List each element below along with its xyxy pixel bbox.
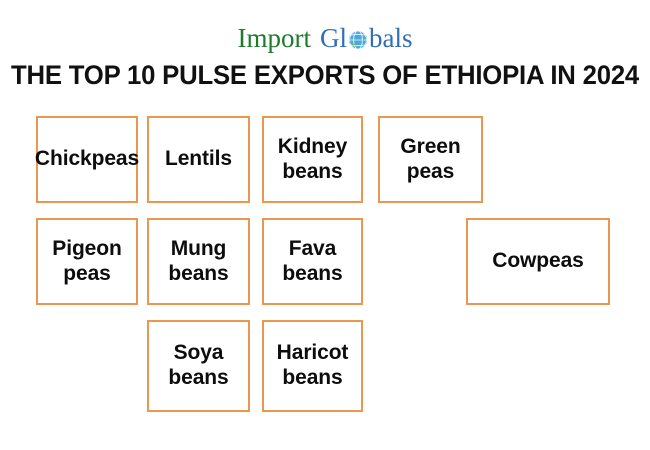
pulse-label: Haricot beans: [277, 341, 349, 391]
pulse-box-chickpeas[interactable]: Chickpeas: [36, 116, 138, 203]
pulse-box-soya-beans[interactable]: Soya beans: [147, 320, 250, 412]
pulse-box-haricot-beans[interactable]: Haricot beans: [262, 320, 363, 412]
pulse-box-green-peas[interactable]: Green peas: [378, 116, 483, 203]
pulse-label: Lentils: [165, 147, 232, 172]
pulse-label: Cowpeas: [492, 249, 584, 274]
pulse-label: Kidney beans: [278, 135, 347, 185]
pulse-label: Soya beans: [168, 341, 228, 391]
pulse-box-kidney-beans[interactable]: Kidney beans: [262, 116, 363, 203]
pulse-label: Pigeon peas: [52, 237, 121, 287]
pulse-label: Chickpeas: [35, 147, 139, 172]
pulse-box-mung-beans[interactable]: Mung beans: [147, 218, 250, 305]
pulse-label: Mung beans: [168, 237, 228, 287]
pulse-box-pigeon-peas[interactable]: Pigeon peas: [36, 218, 138, 305]
pulse-label: Fava beans: [282, 237, 342, 287]
pulse-box-fava-beans[interactable]: Fava beans: [262, 218, 363, 305]
pulse-box-cowpeas[interactable]: Cowpeas: [466, 218, 610, 305]
pulse-label: Green peas: [400, 135, 460, 185]
pulse-grid: Chickpeas Lentils Kidney beans Green pea…: [0, 0, 650, 450]
pulse-box-lentils[interactable]: Lentils: [147, 116, 250, 203]
